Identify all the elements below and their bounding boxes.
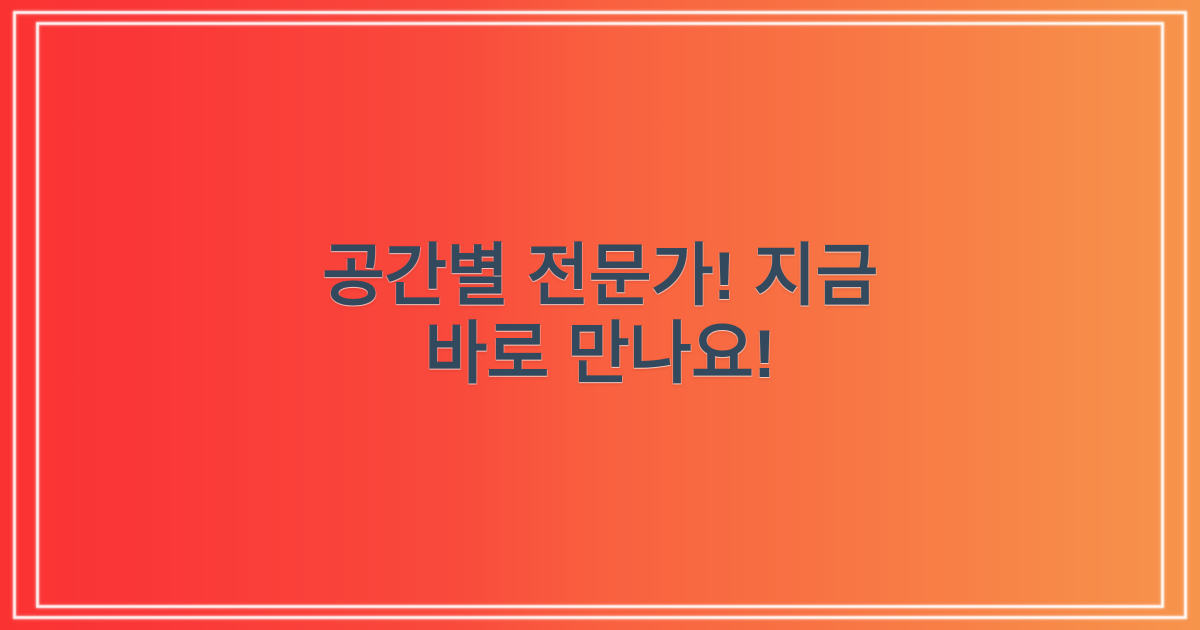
banner-headline: 공간별 전문가! 지금 바로 만나요! bbox=[262, 237, 937, 393]
promo-banner: 공간별 전문가! 지금 바로 만나요! bbox=[0, 0, 1200, 630]
banner-content: 공간별 전문가! 지금 바로 만나요! bbox=[0, 0, 1200, 630]
